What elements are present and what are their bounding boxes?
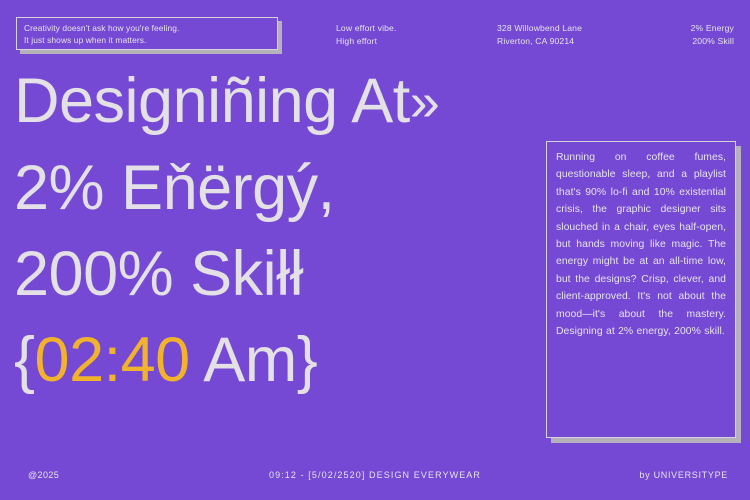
description-body: Running on coffee fumes, questionable sl… bbox=[556, 149, 726, 340]
quote-box: Creativity doesn't ask how you're feelin… bbox=[16, 17, 278, 50]
header-column-address: 328 Willowbend Lane Riverton, CA 90214 bbox=[497, 22, 582, 47]
brace-open: { bbox=[14, 325, 35, 395]
headline-line-1: Designiñing At» bbox=[14, 68, 750, 135]
footer-bar: @2025 09:12 - [5/02/2520] DESIGN EVERYWE… bbox=[0, 454, 750, 500]
quote-line-2: It just shows up when it matters. bbox=[24, 34, 270, 46]
header-bar: Creativity doesn't ask how you're feelin… bbox=[0, 0, 750, 62]
address-line-2: Riverton, CA 90214 bbox=[497, 35, 582, 48]
footer-center-meta: 09:12 - [5/02/2520] DESIGN EVERYWEAR bbox=[269, 470, 481, 480]
effort-line-1: Low effort vibe. bbox=[336, 22, 397, 35]
footer-copyright: @2025 bbox=[28, 470, 59, 480]
stat-skill: 200% Skill bbox=[691, 35, 734, 48]
effort-line-2: High effort bbox=[336, 35, 397, 48]
address-line-1: 328 Willowbend Lane bbox=[497, 22, 582, 35]
header-column-stats: 2% Energy 200% Skill bbox=[691, 22, 734, 47]
description-panel: Running on coffee fumes, questionable sl… bbox=[546, 141, 736, 438]
clock-time: 02:40 bbox=[35, 325, 190, 395]
brace-close: } bbox=[297, 325, 318, 395]
clock-meridiem: Am bbox=[190, 325, 297, 395]
quote-line-1: Creativity doesn't ask how you're feelin… bbox=[24, 22, 270, 34]
footer-credit: by UNIVERSITYPE bbox=[639, 470, 728, 480]
double-chevron-right-icon: » bbox=[410, 69, 436, 135]
headline-line-1-text: Designiñing At bbox=[14, 66, 410, 136]
stat-energy: 2% Energy bbox=[691, 22, 734, 35]
poster-canvas: Creativity doesn't ask how you're feelin… bbox=[0, 0, 750, 500]
header-column-effort: Low effort vibe. High effort bbox=[336, 22, 397, 47]
